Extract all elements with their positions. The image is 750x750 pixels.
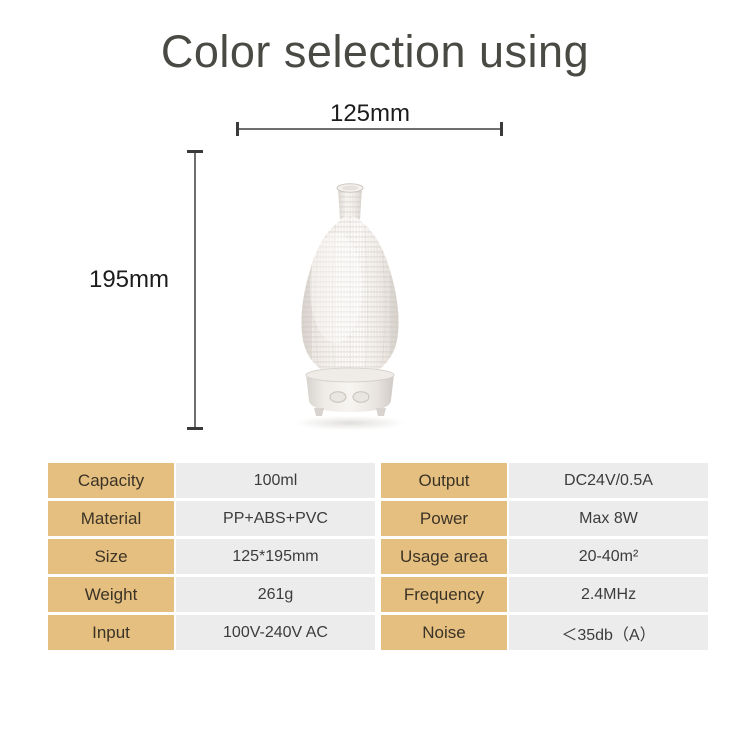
width-dimension-label: 125mm xyxy=(236,100,504,128)
spec-value-noise: ＜35db（A） xyxy=(509,615,708,650)
page-title: Color selection using xyxy=(0,26,750,78)
spec-pair-left: Size 125*195mm xyxy=(48,539,375,574)
power-button xyxy=(330,392,346,402)
specification-table: Capacity 100ml Output DC24V/0.5A Materia… xyxy=(48,463,702,650)
column-divider xyxy=(377,577,379,612)
spec-label-usage-area: Usage area xyxy=(381,539,507,574)
width-dimension-line xyxy=(236,128,503,130)
base-foot-right xyxy=(376,408,386,416)
spec-value-material: PP+ABS+PVC xyxy=(176,501,375,536)
spec-pair-left: Material PP+ABS+PVC xyxy=(48,501,375,536)
spec-pair-left: Capacity 100ml xyxy=(48,463,375,498)
spec-value-capacity: 100ml xyxy=(176,463,375,498)
table-row: Weight 261g Frequency 2.4MHz xyxy=(48,577,702,612)
product-image xyxy=(262,178,438,433)
column-divider xyxy=(377,463,379,498)
spec-value-usage-area: 20-40m² xyxy=(509,539,708,574)
spec-label-input: Input xyxy=(48,615,174,650)
column-divider xyxy=(377,615,379,650)
spec-label-weight: Weight xyxy=(48,577,174,612)
spec-label-frequency: Frequency xyxy=(381,577,507,612)
spec-label-capacity: Capacity xyxy=(48,463,174,498)
spec-pair-left: Input 100V-240V AC xyxy=(48,615,375,650)
light-button xyxy=(353,392,369,402)
table-row: Input 100V-240V AC Noise ＜35db（A） xyxy=(48,615,702,650)
spec-value-size: 125*195mm xyxy=(176,539,375,574)
base-foot-left xyxy=(314,408,324,416)
table-row: Material PP+ABS+PVC Power Max 8W xyxy=(48,501,702,536)
spec-value-weight: 261g xyxy=(176,577,375,612)
column-divider xyxy=(377,501,379,536)
spec-pair-right: Noise ＜35db（A） xyxy=(381,615,708,650)
height-dimension-line xyxy=(194,150,196,430)
rattan-diffuser-illustration xyxy=(262,178,438,433)
spec-label-power: Power xyxy=(381,501,507,536)
spec-value-output: DC24V/0.5A xyxy=(509,463,708,498)
spec-value-power: Max 8W xyxy=(509,501,708,536)
spec-value-frequency: 2.4MHz xyxy=(509,577,708,612)
product-shadow xyxy=(288,415,412,431)
spec-pair-right: Output DC24V/0.5A xyxy=(381,463,708,498)
height-dimension-label: 195mm xyxy=(75,266,183,294)
spec-pair-right: Frequency 2.4MHz xyxy=(381,577,708,612)
table-row: Size 125*195mm Usage area 20-40m² xyxy=(48,539,702,574)
spec-label-noise: Noise xyxy=(381,615,507,650)
column-divider xyxy=(377,539,379,574)
spec-label-output: Output xyxy=(381,463,507,498)
spec-pair-left: Weight 261g xyxy=(48,577,375,612)
spec-label-size: Size xyxy=(48,539,174,574)
spec-pair-right: Power Max 8W xyxy=(381,501,708,536)
spec-value-input: 100V-240V AC xyxy=(176,615,375,650)
spec-pair-right: Usage area 20-40m² xyxy=(381,539,708,574)
spec-label-material: Material xyxy=(48,501,174,536)
table-row: Capacity 100ml Output DC24V/0.5A xyxy=(48,463,702,498)
